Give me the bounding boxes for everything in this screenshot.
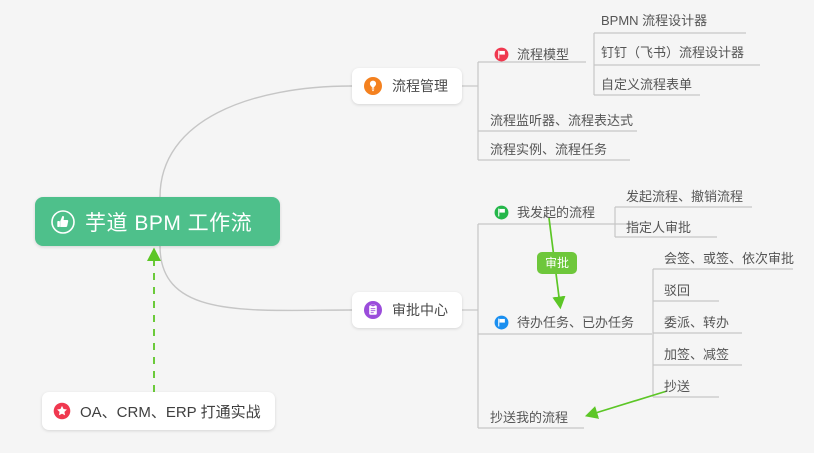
leaf-label-cc: 抄送: [664, 380, 690, 393]
leaf-cc-my-process[interactable]: 抄送我的流程: [490, 411, 568, 424]
leaf-label-process-model: 流程模型: [517, 48, 569, 61]
leaf-label-reject: 驳回: [664, 284, 690, 297]
lightbulb-pin-icon: [363, 76, 383, 96]
wire-root-to-flow-management: [160, 86, 352, 197]
branch-label-flow-management: 流程管理: [392, 76, 448, 96]
leaf-assignee-approve[interactable]: 指定人审批: [626, 221, 691, 234]
root-label: 芋道 BPM 工作流: [85, 207, 252, 237]
leaf-label-listener-expression: 流程监听器、流程表达式: [490, 114, 633, 127]
leaf-label-custom-form: 自定义流程表单: [601, 78, 692, 91]
bottom-note-label: OA、CRM、ERP 打通实战: [80, 401, 261, 422]
flag-icon: [494, 315, 509, 330]
bottom-note-node[interactable]: OA、CRM、ERP 打通实战: [42, 392, 275, 430]
thumbs-up-icon: [51, 210, 75, 234]
leaf-dingtalk-designer[interactable]: 钉钉（飞书）流程设计器: [601, 46, 744, 59]
leaf-cc[interactable]: 抄送: [664, 380, 690, 393]
leaf-delegate-transfer[interactable]: 委派、转办: [664, 316, 729, 329]
branch-node-flow-management[interactable]: 流程管理: [352, 68, 462, 104]
leaf-start-cancel-process[interactable]: 发起流程、撤销流程: [626, 190, 743, 203]
leaf-label-bpmn-designer: BPMN 流程设计器: [601, 14, 707, 27]
leaf-add-remove-sign[interactable]: 加签、减签: [664, 348, 729, 361]
leaf-label-start-cancel-process: 发起流程、撤销流程: [626, 190, 743, 203]
leaf-bpmn-designer[interactable]: BPMN 流程设计器: [601, 14, 707, 27]
leaf-label-todo-done-task: 待办任务、已办任务: [517, 316, 634, 329]
leaf-label-add-remove-sign: 加签、减签: [664, 348, 729, 361]
flag-icon: [494, 205, 509, 220]
leaf-label-dingtalk-designer: 钉钉（飞书）流程设计器: [601, 46, 744, 59]
wire-root-to-approval-center: [160, 246, 352, 310]
branch-label-approval-center: 审批中心: [392, 300, 448, 320]
flag-icon: [494, 47, 509, 62]
annotation-tag-approval: 审批: [537, 252, 577, 274]
leaf-my-started-process[interactable]: 我发起的流程: [494, 205, 595, 220]
leaf-instance-task[interactable]: 流程实例、流程任务: [490, 143, 607, 156]
leaf-label-instance-task: 流程实例、流程任务: [490, 143, 607, 156]
leaf-countersign[interactable]: 会签、或签、依次审批: [664, 252, 794, 265]
leaf-label-countersign: 会签、或签、依次审批: [664, 252, 794, 265]
branch-node-approval-center[interactable]: 审批中心: [352, 292, 462, 328]
leaf-label-my-started-process: 我发起的流程: [517, 206, 595, 219]
leaf-label-assignee-approve: 指定人审批: [626, 221, 691, 234]
leaf-reject[interactable]: 驳回: [664, 284, 690, 297]
annotation-arrow-cc: [589, 391, 667, 415]
leaf-custom-form[interactable]: 自定义流程表单: [601, 78, 692, 91]
root-node[interactable]: 芋道 BPM 工作流: [35, 197, 280, 246]
mindmap-canvas: 芋道 BPM 工作流 流程管理 流程模型 BPMN 流程设计器 钉钉（飞书）流程: [0, 0, 814, 453]
leaf-label-cc-my-process: 抄送我的流程: [490, 411, 568, 424]
leaf-todo-done-task[interactable]: 待办任务、已办任务: [494, 315, 634, 330]
leaf-listener-expression[interactable]: 流程监听器、流程表达式: [490, 114, 633, 127]
clipboard-icon: [363, 300, 383, 320]
annotation-tag-approval-label: 审批: [545, 256, 569, 270]
star-badge-icon: [53, 402, 71, 420]
leaf-process-model[interactable]: 流程模型: [494, 47, 569, 62]
leaf-label-delegate-transfer: 委派、转办: [664, 316, 729, 329]
